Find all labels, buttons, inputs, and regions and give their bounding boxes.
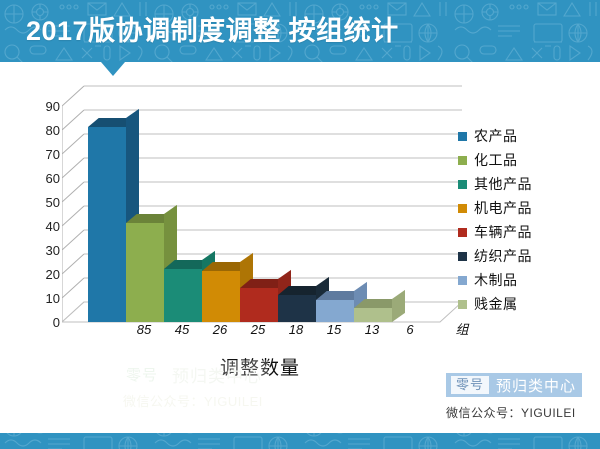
legend-swatch-icon xyxy=(458,156,467,165)
brand-name-label: 预归类中心 xyxy=(496,375,576,396)
legend-label: 农产品 xyxy=(474,126,518,146)
x-tick-1: 45 xyxy=(166,322,198,338)
y-tick-90: 90 xyxy=(34,100,60,113)
x-tick-3: 25 xyxy=(242,322,274,338)
page-footer-strip xyxy=(0,433,600,449)
brand-logo-block: 零号 预归类中心 微信公众号：YIGUILEI xyxy=(446,373,586,421)
bar-化工品[interactable] xyxy=(126,214,164,322)
legend-swatch-icon xyxy=(458,132,467,141)
legend-item-车辆产品[interactable]: 车辆产品 xyxy=(458,220,598,244)
y-axis: 90 80 70 60 50 40 30 20 10 0 xyxy=(28,70,60,370)
legend-item-贱金属[interactable]: 贱金属 xyxy=(458,292,598,316)
legend-item-农产品[interactable]: 农产品 xyxy=(458,124,598,148)
legend-swatch-icon xyxy=(458,300,467,309)
y-tick-10: 10 xyxy=(34,292,60,305)
bar-车辆产品[interactable] xyxy=(240,279,278,322)
legend-label: 化工品 xyxy=(474,150,518,170)
bar-机电产品[interactable] xyxy=(202,262,240,322)
legend-swatch-icon xyxy=(458,252,467,261)
page-header: 2017版协调制度调整 按组统计 xyxy=(0,0,600,62)
x-axis-unit-label: 组 xyxy=(446,322,478,338)
legend-swatch-icon xyxy=(458,228,467,237)
legend-swatch-icon xyxy=(458,180,467,189)
y-tick-20: 20 xyxy=(34,268,60,281)
footer-decorative-pattern xyxy=(0,433,600,449)
legend-swatch-icon xyxy=(458,276,467,285)
legend-item-其他产品[interactable]: 其他产品 xyxy=(458,172,598,196)
y-tick-50: 50 xyxy=(34,196,60,209)
legend-label: 木制品 xyxy=(474,270,518,290)
legend-label: 纺织产品 xyxy=(474,246,532,266)
x-tick-0: 85 xyxy=(128,322,160,338)
bar-其他产品[interactable] xyxy=(164,260,202,322)
legend-label: 机电产品 xyxy=(474,198,532,218)
legend-label: 贱金属 xyxy=(474,294,518,314)
legend-item-纺织产品[interactable]: 纺织产品 xyxy=(458,244,598,268)
y-tick-0: 0 xyxy=(34,316,60,329)
x-axis-title: 调整数量 xyxy=(140,353,380,380)
page-title: 2017版协调制度调整 按组统计 xyxy=(26,13,399,49)
x-tick-2: 26 xyxy=(204,322,236,338)
legend-swatch-icon xyxy=(458,204,467,213)
bar-木制品[interactable] xyxy=(316,291,354,322)
legend-item-木制品[interactable]: 木制品 xyxy=(458,268,598,292)
chart-legend: 农产品 化工品 其他产品 机电产品 车辆产品 纺织产品 木制品 贱金属 xyxy=(458,124,598,316)
y-tick-30: 30 xyxy=(34,244,60,257)
x-tick-5: 15 xyxy=(318,322,350,338)
brand-logo-badge[interactable]: 零号 预归类中心 xyxy=(446,373,582,397)
legend-label: 其他产品 xyxy=(474,174,532,194)
y-tick-60: 60 xyxy=(34,172,60,185)
x-axis: 85 45 26 25 18 15 13 6 组 xyxy=(62,322,482,342)
bar-贱金属[interactable] xyxy=(354,299,392,322)
watermark-wechat-label: 微信公众号：YIGUILEI xyxy=(118,390,268,411)
legend-label: 车辆产品 xyxy=(474,222,532,242)
brand-wechat-label: 微信公众号：YIGUILEI xyxy=(446,404,586,421)
x-tick-6: 13 xyxy=(356,322,388,338)
x-tick-4: 18 xyxy=(280,322,312,338)
legend-item-机电产品[interactable]: 机电产品 xyxy=(458,196,598,220)
x-tick-7: 6 xyxy=(394,322,426,338)
y-tick-70: 70 xyxy=(34,148,60,161)
y-tick-40: 40 xyxy=(34,220,60,233)
bar-农产品[interactable] xyxy=(88,118,126,322)
bar-纺织产品[interactable] xyxy=(278,286,316,322)
brand-zero-label: 零号 xyxy=(451,376,489,394)
y-tick-80: 80 xyxy=(34,124,60,137)
legend-item-化工品[interactable]: 化工品 xyxy=(458,148,598,172)
